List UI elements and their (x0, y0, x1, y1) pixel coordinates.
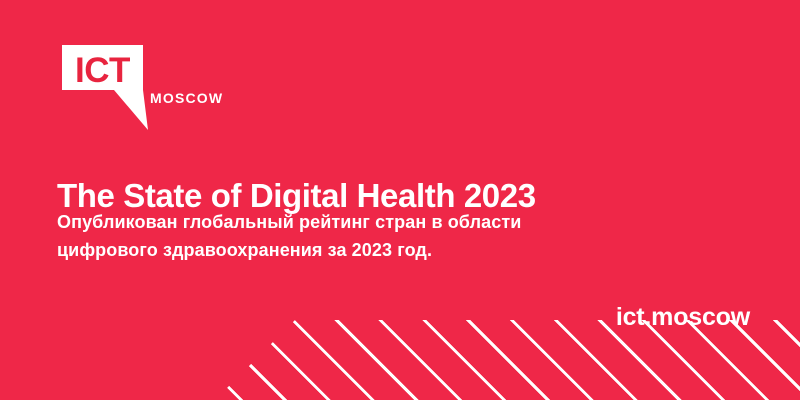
ict-moscow-logo[interactable]: ICT MOSCOW (62, 45, 242, 135)
subtitle-line-2: цифрового здравоохранения за 2023 год. (57, 237, 521, 265)
diagonal-stripes-decoration (0, 320, 800, 400)
subtitle: Опубликован глобальный рейтинг стран в о… (57, 209, 521, 265)
logo-ict-text: ICT (75, 53, 130, 88)
promo-banner: ICT MOSCOW The State of Digital Health 2… (0, 0, 800, 400)
logo-moscow-text: MOSCOW (150, 91, 223, 105)
subtitle-line-1: Опубликован глобальный рейтинг стран в о… (57, 209, 521, 237)
site-url[interactable]: ict.moscow (616, 305, 750, 330)
